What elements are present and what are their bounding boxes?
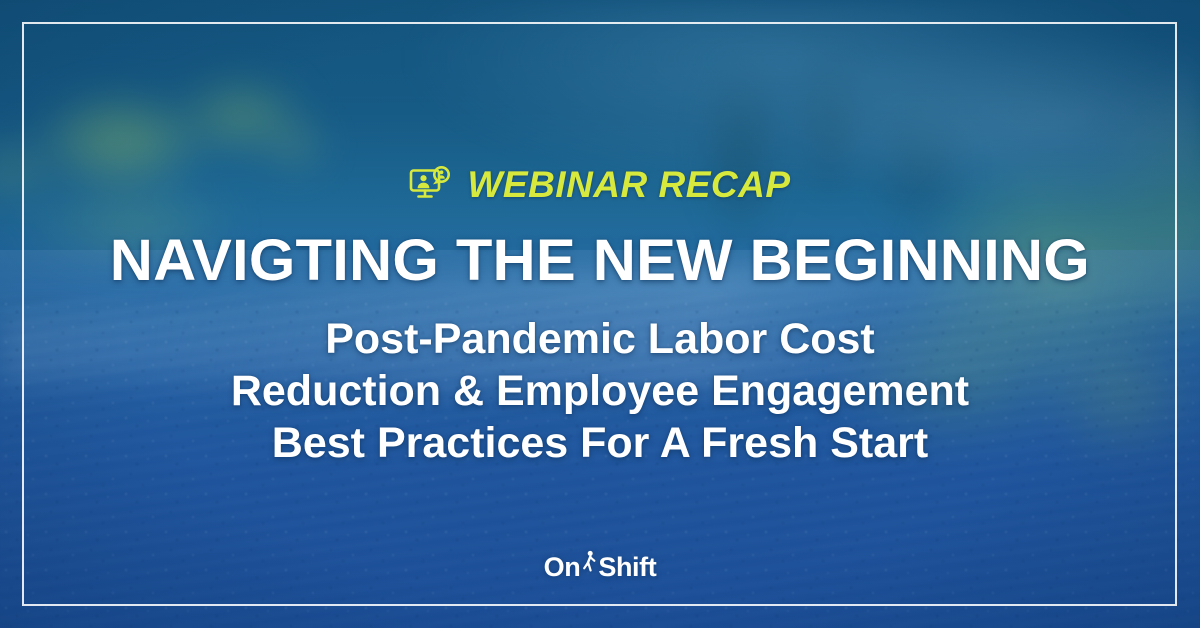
eyebrow-label: WEBINAR RECAP — [467, 166, 790, 203]
webinar-monitor-person-icon — [409, 165, 451, 203]
banner-content: WEBINAR RECAP NAVIGTING THE NEW BEGINNIN… — [0, 0, 1200, 628]
subtitle: Post-Pandemic Labor Cost Reduction & Emp… — [231, 313, 969, 469]
subtitle-line-3: Best Practices For A Fresh Start — [231, 417, 969, 469]
page-title: NAVIGTING THE NEW BEGINNING — [110, 231, 1090, 291]
eyebrow-row: WEBINAR RECAP — [409, 158, 790, 210]
subtitle-line-2: Reduction & Employee Engagement — [231, 365, 969, 417]
subtitle-line-1: Post-Pandemic Labor Cost — [231, 313, 969, 365]
webinar-recap-banner: WEBINAR RECAP NAVIGTING THE NEW BEGINNIN… — [0, 0, 1200, 628]
